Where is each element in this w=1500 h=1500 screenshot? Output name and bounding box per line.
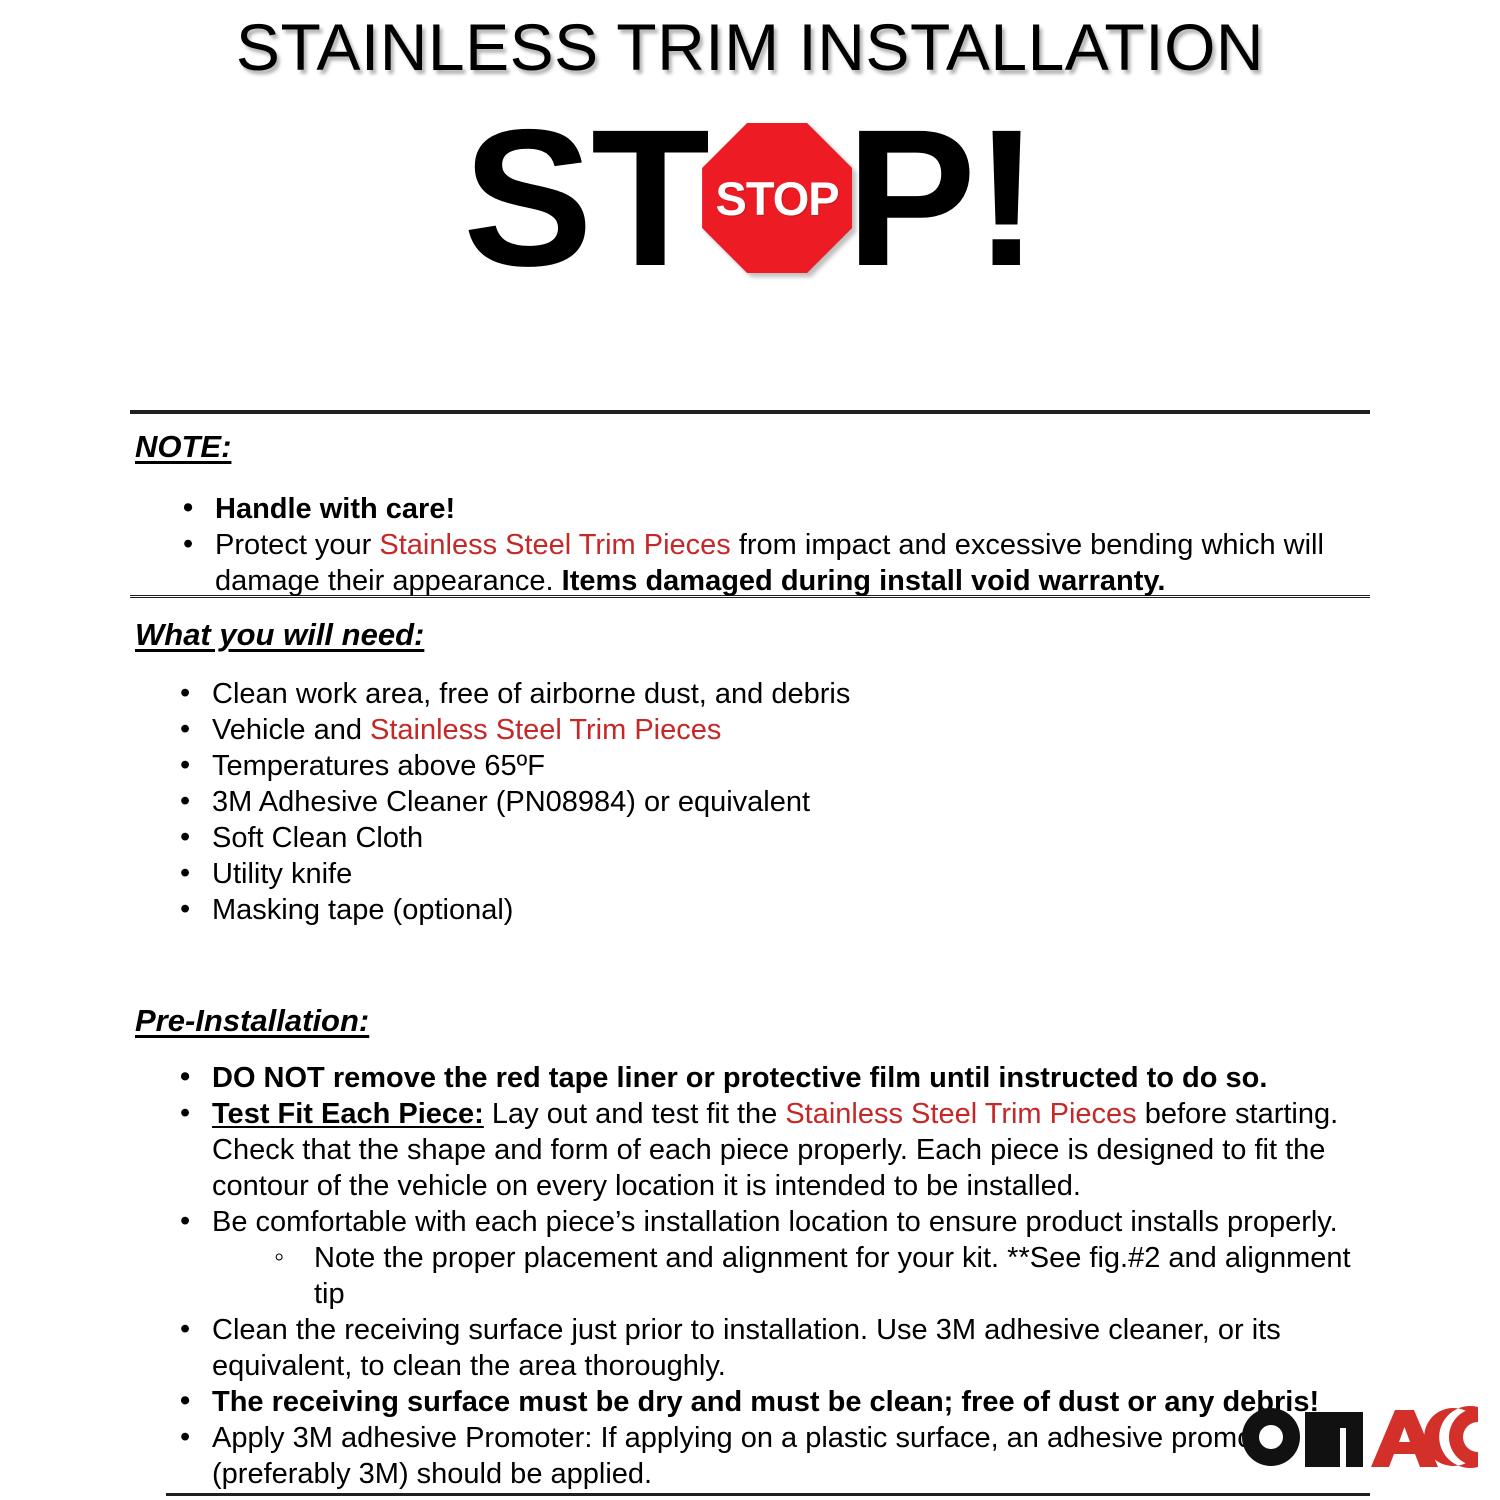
list-item-text: 3M Adhesive Cleaner (PN08984) or equival… [212,786,810,818]
stop-letters-before: ST [463,122,708,274]
list-item-text: Apply 3M adhesive Promoter: If applying … [212,1422,1287,1490]
list-item-text: Utility knife [212,858,352,890]
divider-bottom [166,1493,1370,1496]
sub-list-item-text: Note the proper placement and alignment … [314,1242,1351,1310]
stop-sign-icon: STOP [702,123,852,273]
list-item-text: DO NOT remove the red tape liner or prot… [212,1062,1267,1094]
list-item: Handle with care! [169,491,1379,527]
divider-top [130,410,1370,414]
stop-word: ST STOP P! [463,122,1037,274]
highlight-red: Stainless Steel Trim Pieces [785,1098,1136,1130]
list-item: The receiving surface must be dry and mu… [166,1384,1381,1420]
page-title: STAINLESS TRIM INSTALLATION [0,0,1500,80]
list-item-text: Be comfortable with each piece’s install… [212,1206,1338,1238]
list-item: Be comfortable with each piece’s install… [166,1204,1381,1240]
list-item: Clean the receiving surface just prior t… [166,1312,1381,1384]
list-item: Temperatures above 65ºF [166,748,1266,784]
list-item-text: Soft Clean Cloth [212,822,423,854]
list-item-text: Handle with care! [215,493,455,525]
stop-sign-label: STOP [716,175,839,222]
list-item: Soft Clean Cloth [166,820,1266,856]
section-heading-pre-installation: Pre-Installation: [135,1004,369,1038]
note-bullet-list: Handle with care! Protect your Stainless… [169,491,1379,599]
list-item-text: Clean work area, free of airborne dust, … [212,678,850,710]
omac-logo-icon [1240,1406,1480,1468]
highlight-red: Stainless Steel Trim Pieces [379,529,730,561]
stop-letters-after: P! [846,122,1037,274]
list-item: Clean work area, free of airborne dust, … [166,676,1266,712]
list-item-text: Temperatures above 65ºF [212,750,545,782]
highlight-red: Stainless Steel Trim Pieces [370,714,721,746]
sub-list-item: Note the proper placement and alignment … [166,1240,1381,1312]
stop-graphic: ST STOP P! [0,80,1500,280]
list-item: Apply 3M adhesive Promoter: If applying … [166,1420,1381,1492]
list-item: Test Fit Each Piece: Lay out and test fi… [166,1096,1381,1204]
list-item: 3M Adhesive Cleaner (PN08984) or equival… [166,784,1266,820]
need-bullet-list: Clean work area, free of airborne dust, … [166,676,1266,928]
list-item: DO NOT remove the red tape liner or prot… [166,1060,1381,1096]
list-item-text: Masking tape (optional) [212,894,513,926]
emphasis-bold: Items damaged during install void warran… [562,565,1166,597]
emphasis-bold-underline: Test Fit Each Piece: [212,1098,484,1130]
list-item-text: Clean the receiving surface just prior t… [212,1314,1281,1382]
omac-logo [1240,1404,1480,1470]
list-item-text: Test Fit Each Piece: Lay out and test fi… [212,1098,1338,1202]
section-heading-note: NOTE: [135,430,231,464]
section-heading-what-you-will-need: What you will need: [135,618,424,652]
list-item: Utility knife [166,856,1266,892]
list-item: Protect your Stainless Steel Trim Pieces… [169,527,1379,599]
list-item-text: Vehicle and Stainless Steel Trim Pieces [212,714,721,746]
list-item-text: Protect your Stainless Steel Trim Pieces… [215,529,1324,597]
pre-installation-bullet-list: DO NOT remove the red tape liner or prot… [166,1060,1381,1492]
list-item: Vehicle and Stainless Steel Trim Pieces [166,712,1266,748]
list-item: Masking tape (optional) [166,892,1266,928]
list-item-text: The receiving surface must be dry and mu… [212,1386,1319,1418]
